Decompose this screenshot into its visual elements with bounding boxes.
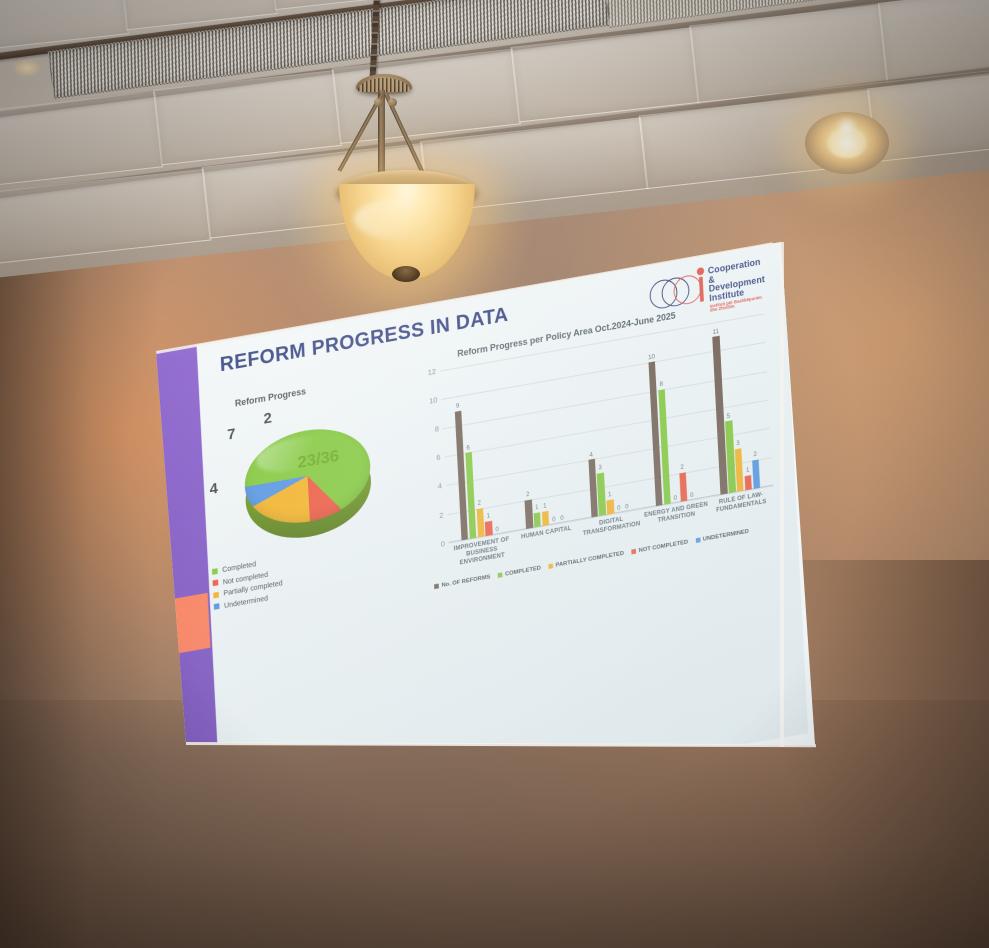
y-axis-tick: 6 bbox=[436, 453, 441, 462]
bar-value-label: 0 bbox=[674, 494, 678, 501]
pendant-lamp-icon bbox=[330, 0, 480, 294]
legend-swatch-icon bbox=[695, 538, 700, 544]
legend-swatch-icon bbox=[214, 603, 220, 610]
bar-group: 108020 bbox=[634, 325, 708, 508]
legend-swatch-icon bbox=[498, 572, 503, 578]
recessed-downlight-icon bbox=[805, 112, 889, 174]
bar-fill bbox=[745, 475, 753, 491]
room-scene: REFORM PROGRESS IN DATA Cooperation & De… bbox=[0, 0, 989, 948]
y-axis-tick: 4 bbox=[438, 482, 443, 491]
bar-value-label: 2 bbox=[680, 464, 684, 471]
ceiling-fixture-small-icon bbox=[14, 60, 40, 76]
bar-fill bbox=[752, 459, 760, 489]
logo-i-stem-icon bbox=[699, 277, 704, 302]
bar-value-label: 2 bbox=[526, 491, 530, 498]
bar-value-label: 10 bbox=[648, 354, 655, 362]
bar-value-label: 2 bbox=[477, 500, 481, 507]
y-axis-tick: 12 bbox=[428, 367, 437, 377]
legend-swatch-icon bbox=[213, 592, 219, 599]
bar-fill bbox=[534, 512, 542, 528]
logo-circles-icon bbox=[649, 273, 702, 310]
bar-value-label: 0 bbox=[690, 491, 694, 498]
bar-group: 115312 bbox=[699, 314, 773, 497]
bar-value-label: 5 bbox=[727, 413, 731, 420]
y-axis-tick: 2 bbox=[439, 510, 444, 519]
bar-value-label: 9 bbox=[456, 403, 460, 410]
bar-value-label: 1 bbox=[608, 491, 612, 498]
bar-value-label: 0 bbox=[625, 503, 629, 510]
y-axis-tick: 8 bbox=[435, 424, 440, 433]
pie-chart: 7 2 4 bbox=[203, 388, 414, 584]
bar-chart: Reform Progress per Policy Area Oct.2024… bbox=[415, 299, 783, 598]
legend-swatch-icon bbox=[434, 584, 439, 590]
bar-value-label: 4 bbox=[589, 451, 593, 458]
bar-value-label: 1 bbox=[543, 503, 547, 510]
bar-value-label: 3 bbox=[736, 440, 740, 447]
y-axis-tick: 10 bbox=[429, 396, 438, 406]
bar-fill bbox=[476, 508, 484, 538]
bar-value-label: 6 bbox=[466, 444, 470, 451]
bar-group: 43100 bbox=[569, 336, 643, 519]
pie-chart-title: Reform Progress bbox=[235, 387, 307, 410]
bar-value-label: 0 bbox=[560, 514, 564, 521]
bar-fill bbox=[542, 511, 550, 527]
bar-fill bbox=[607, 499, 615, 515]
lamp-chain bbox=[369, 0, 380, 82]
bar-group: 21100 bbox=[505, 348, 579, 531]
bar-value-label: 1 bbox=[746, 467, 750, 474]
legend-swatch-icon bbox=[213, 580, 219, 587]
logo-i-dot-icon bbox=[697, 267, 705, 276]
bar-value-label: 3 bbox=[598, 464, 602, 471]
bar-value-label: 0 bbox=[552, 516, 556, 523]
bar-value-label: 0 bbox=[495, 526, 499, 533]
legend-swatch-icon bbox=[631, 549, 636, 555]
bar-value-label: 1 bbox=[486, 513, 490, 520]
legend-swatch-icon bbox=[548, 563, 553, 569]
bar-value-label: 8 bbox=[659, 381, 663, 388]
bar-value-label: 0 bbox=[617, 504, 621, 511]
bar-fill bbox=[485, 521, 493, 537]
bar-group: 96210 bbox=[440, 359, 514, 542]
bar-value-label: 1 bbox=[535, 504, 539, 511]
bar-fill bbox=[679, 472, 687, 502]
pie-callout-partially: 7 bbox=[227, 426, 236, 444]
pie-callout-notcompleted: 4 bbox=[209, 480, 218, 498]
bar-fill bbox=[525, 499, 533, 529]
bar-value-label: 2 bbox=[753, 451, 757, 458]
bar-value-label: 11 bbox=[712, 328, 719, 336]
legend-swatch-icon bbox=[212, 568, 218, 575]
pie-callout-undetermined: 2 bbox=[263, 410, 272, 428]
